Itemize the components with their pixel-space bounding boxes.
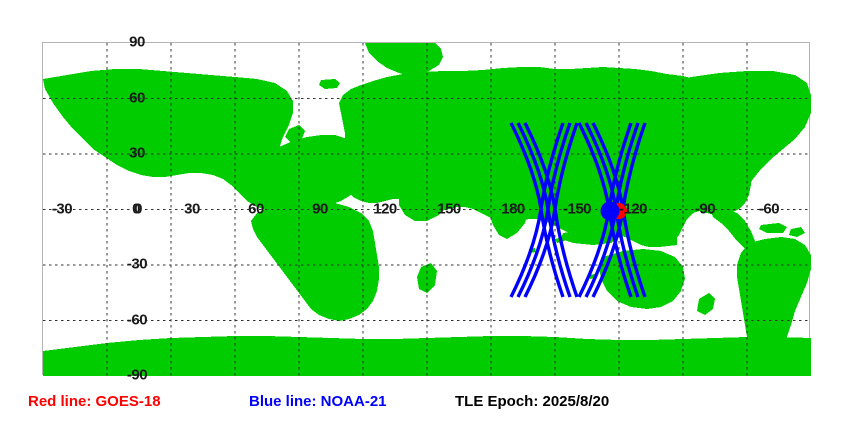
- lon-tick--30: -30: [52, 201, 72, 218]
- lat-tick-60: 60: [129, 90, 145, 107]
- lon-tick-30: 30: [184, 201, 200, 218]
- lon-tick-150: 150: [437, 201, 461, 218]
- lon-tick--150: -150: [563, 201, 591, 218]
- satellite-marker-noaa-21: [601, 202, 620, 221]
- legend-goes-18: Red line: GOES-18: [28, 393, 161, 410]
- legend-noaa-21: Blue line: NOAA-21: [249, 393, 387, 410]
- lat-tick-90: 90: [129, 34, 145, 51]
- lat-tick--60: -60: [127, 312, 147, 329]
- legend-footer: Red line: GOES-18 Blue line: NOAA-21 TLE…: [0, 393, 850, 425]
- legend-tle-epoch: TLE Epoch: 2025/8/20: [455, 393, 609, 410]
- lon-tick--60: -60: [759, 201, 779, 218]
- satellite-ground-track-map: 90 60 30 0 -30 -60 -90 -30 0 30 60 90 12…: [0, 0, 850, 425]
- lat-tick--30: -30: [127, 256, 147, 273]
- lat-tick--90: -90: [127, 367, 147, 384]
- lat-tick-30: 30: [129, 145, 145, 162]
- lon-tick-120: 120: [373, 201, 397, 218]
- lon-tick-0: 0: [134, 201, 142, 218]
- lon-tick-90: 90: [312, 201, 328, 218]
- lon-tick-60: 60: [248, 201, 264, 218]
- lon-tick-180: 180: [501, 201, 525, 218]
- lon-tick--120: -120: [619, 201, 647, 218]
- lon-tick--90: -90: [695, 201, 715, 218]
